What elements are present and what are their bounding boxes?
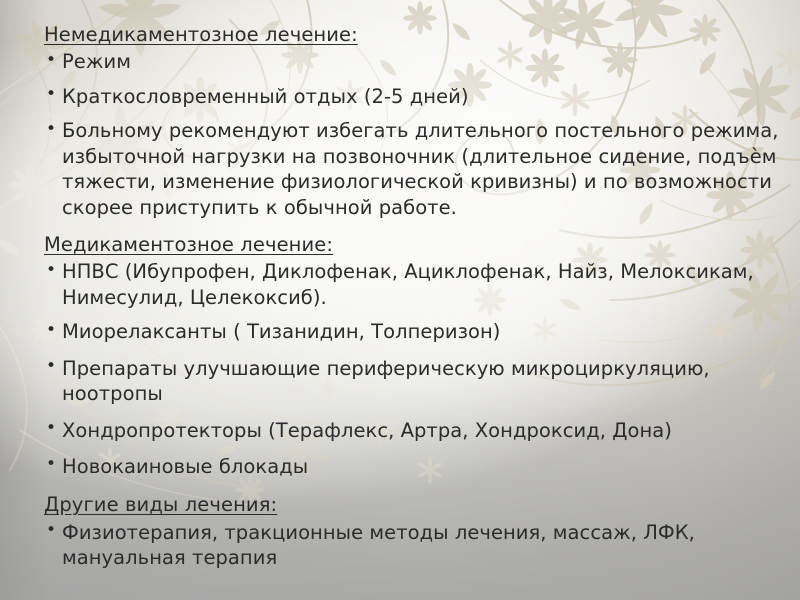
list-item: Физиотерапия, тракционные методы лечения… (38, 520, 782, 571)
list-item: НПВС (Ибупрофен, Диклофенак, Ациклофенак… (38, 259, 782, 310)
slide-content: Немедикаментозное лечение: Режим Краткос… (0, 0, 800, 600)
section-heading-pharmacological: Медикаментозное лечение: (44, 232, 782, 257)
list-item: Больному рекомендуют избегать длительног… (38, 118, 782, 220)
list-item: Новокаиновые блокады (38, 454, 782, 479)
list-item: Хондропротекторы (Терафлекс, Артра, Хонд… (38, 418, 782, 443)
list-item: Режим (38, 49, 782, 74)
presentation-slide: Немедикаментозное лечение: Режим Краткос… (0, 0, 800, 600)
list-item: Препараты улучшающие периферическую микр… (38, 356, 782, 407)
list-item: Миорелаксанты ( Тизанидин, Толперизон) (38, 319, 782, 344)
section-heading-nonpharmacological: Немедикаментозное лечение: (44, 22, 782, 47)
list-item: Краткословременный отдых (2-5 дней) (38, 84, 782, 109)
section-heading-other-treatments: Другие виды лечения: (44, 492, 782, 517)
